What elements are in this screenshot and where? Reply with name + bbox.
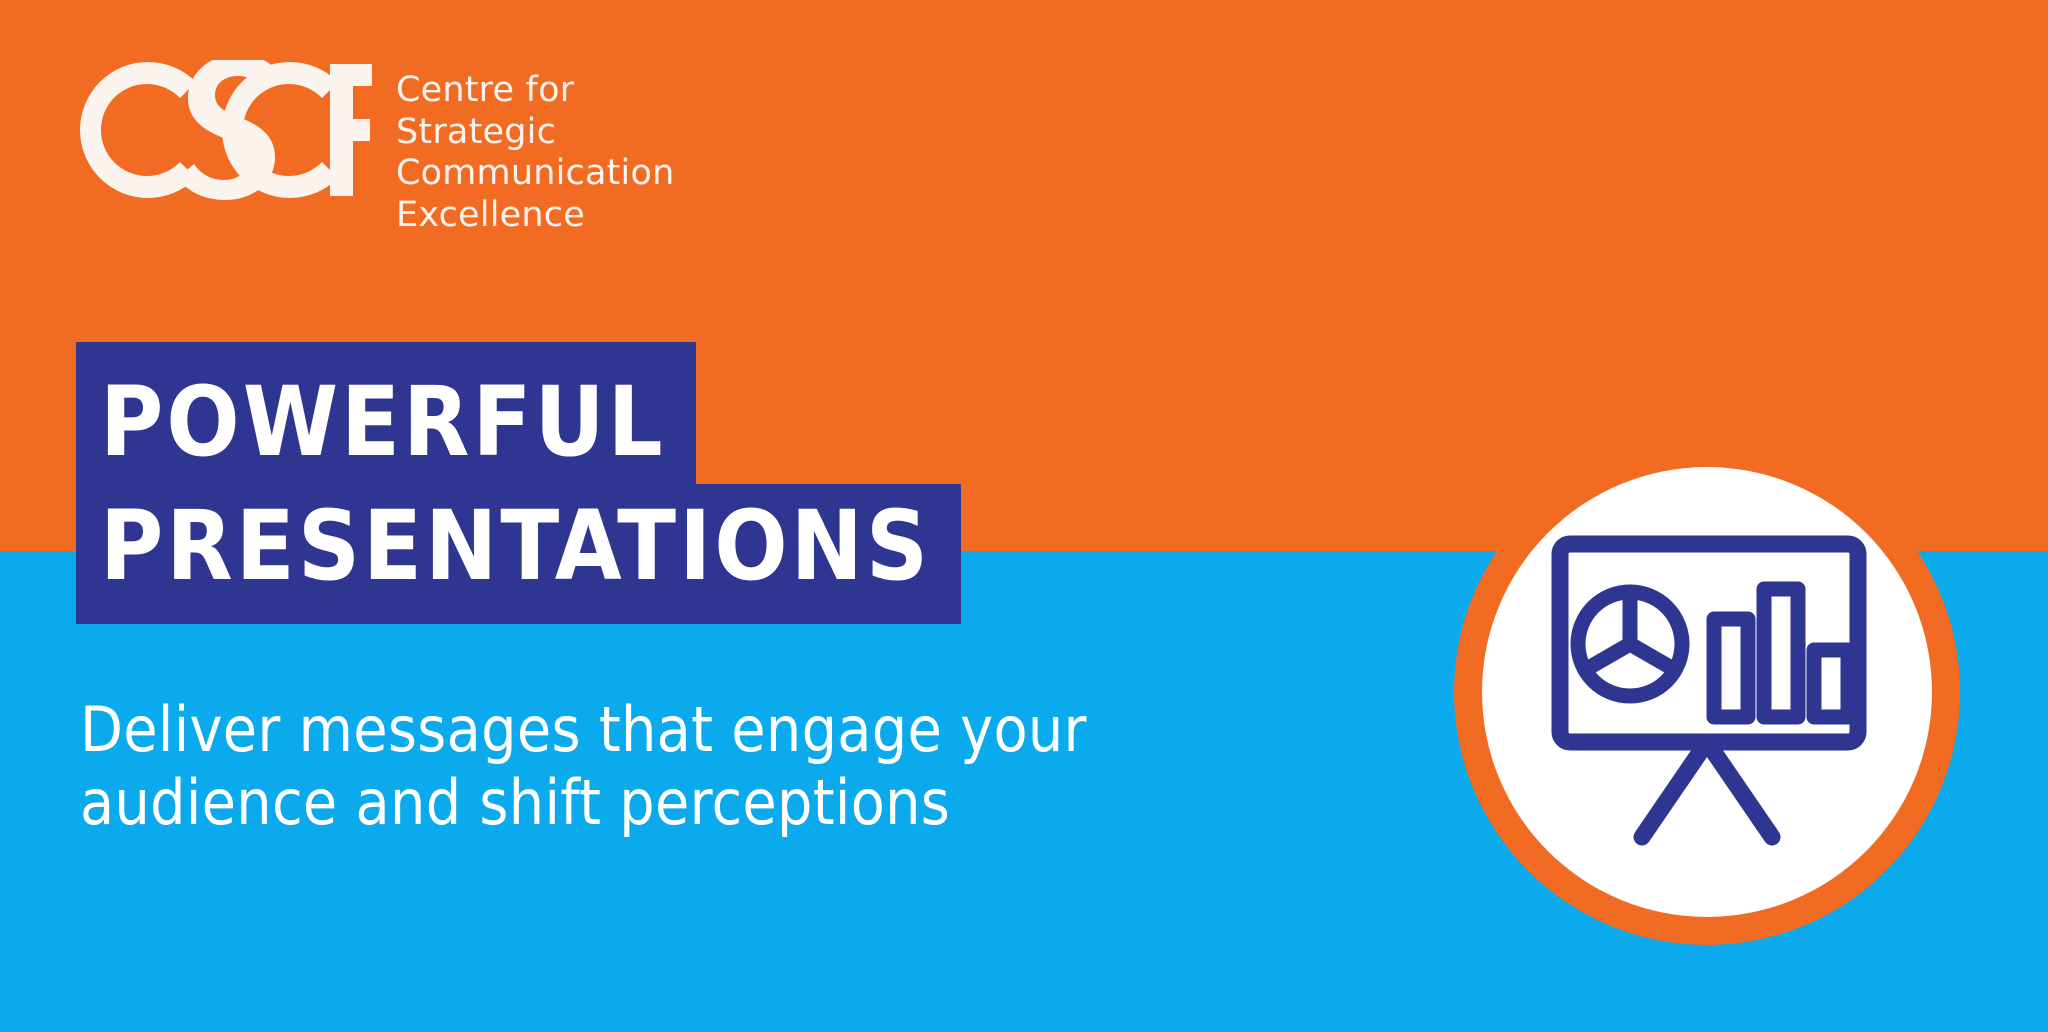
banner-canvas: Centre for Strategic Communication Excel… bbox=[0, 0, 2048, 1032]
presentation-board-chart-icon bbox=[1452, 437, 1962, 947]
subtitle-block: Deliver messages that engage your audien… bbox=[80, 694, 1380, 839]
logo-line-2: Strategic bbox=[396, 112, 674, 154]
headline-line-1: POWERFUL bbox=[76, 342, 696, 484]
csce-logo[interactable]: Centre for Strategic Communication Excel… bbox=[76, 60, 674, 237]
logo-line-3: Communication bbox=[396, 153, 674, 195]
logo-line-1: Centre for bbox=[396, 70, 674, 112]
headline-line-2: PRESENTATIONS bbox=[76, 484, 961, 624]
logo-line-4: Excellence bbox=[396, 195, 674, 237]
csce-logo-wordmark: Centre for Strategic Communication Excel… bbox=[396, 70, 674, 237]
headline-block: POWERFUL PRESENTATIONS bbox=[76, 342, 961, 624]
csce-monogram-icon bbox=[76, 60, 372, 204]
subtitle-line-2: audience and shift perceptions bbox=[80, 767, 1380, 840]
subtitle-line-1: Deliver messages that engage your bbox=[80, 694, 1380, 767]
